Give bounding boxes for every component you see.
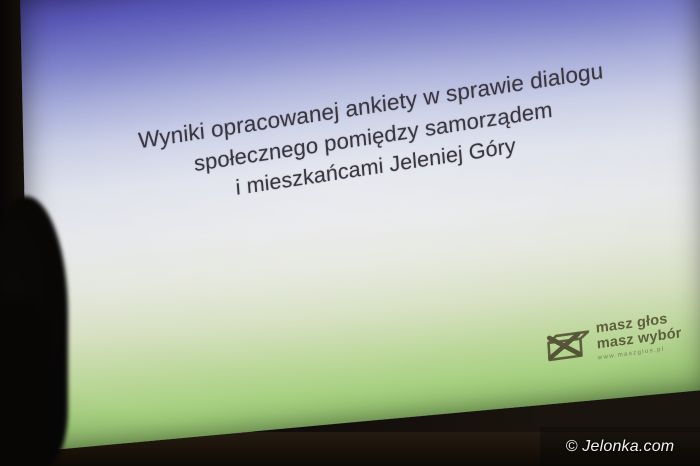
audience-member-silhouette-lower: [0, 300, 48, 466]
watermark-banner: © Jelonka.com: [540, 427, 700, 466]
watermark-text: © Jelonka.com: [566, 438, 675, 456]
screenshot-stage: Wyniki opracowanej ankiety w sprawie dia…: [0, 0, 700, 466]
ballot-box-with-x-icon: [542, 326, 592, 364]
projection-screen: Wyniki opracowanej ankiety w sprawie dia…: [20, 0, 700, 452]
